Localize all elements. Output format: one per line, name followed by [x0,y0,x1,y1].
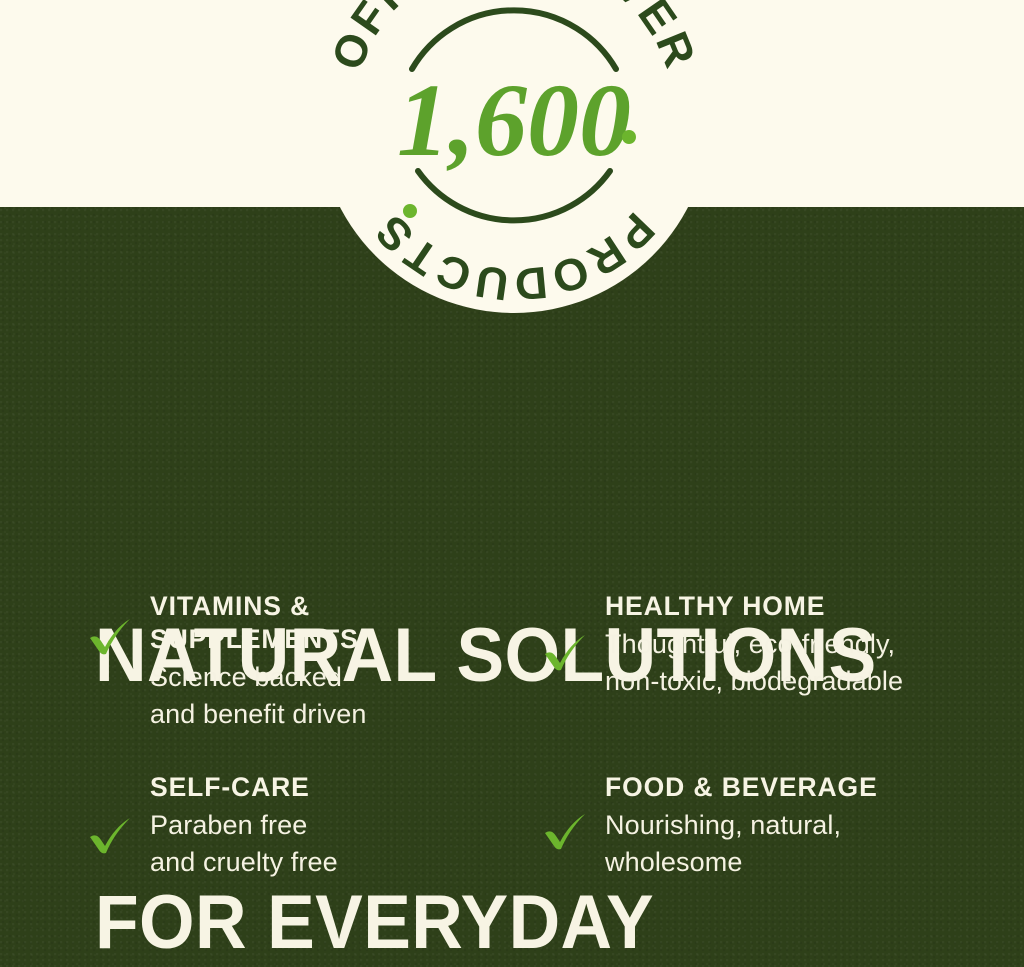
feature-list: VITAMINS & SUPPLEMENTS Science backed an… [0,590,1024,881]
feature-self-care: SELF-CARE Paraben free and cruelty free [88,771,543,881]
check-container [543,771,605,851]
feature-title: SELF-CARE [150,771,543,804]
feature-vitamins-supplements: VITAMINS & SUPPLEMENTS Science backed an… [88,590,543,733]
check-icon [88,815,132,855]
feature-title: VITAMINS & SUPPLEMENTS [150,590,543,656]
feature-text: SELF-CARE Paraben free and cruelty free [150,771,543,881]
feature-description: Thoughtful, eco-friendly, non-toxic, bio… [605,626,1012,700]
check-container [88,771,150,855]
badge-graphic: OFFERING OVER PRODUCTS 1,600 [318,0,710,313]
badge-dot-right-icon [622,130,636,144]
feature-text: VITAMINS & SUPPLEMENTS Science backed an… [150,590,543,733]
check-icon [543,811,587,851]
feature-title: FOOD & BEVERAGE [605,771,1012,804]
check-container [88,590,150,656]
badge-upper-arc-rule [412,10,616,69]
feature-text: FOOD & BEVERAGE Nourishing, natural, who… [605,771,1012,881]
feature-text: HEALTHY HOME Thoughtful, eco-friendly, n… [605,590,1012,700]
promo-banner: OFFERING OVER PRODUCTS 1,600 NATURAL SOL… [0,0,1024,967]
badge-number: 1,600 [397,63,631,178]
check-icon [88,616,132,656]
feature-food-beverage: FOOD & BEVERAGE Nourishing, natural, who… [543,771,1012,881]
headline-line-2: FOR EVERYDAY [95,878,877,967]
products-count-badge: OFFERING OVER PRODUCTS 1,600 [318,0,710,313]
feature-description: Science backed and benefit driven [150,659,543,733]
check-container [543,590,605,672]
badge-lower-arc-rule [418,171,610,220]
feature-title: HEALTHY HOME [605,590,1012,623]
badge-dot-left-icon [403,204,417,218]
feature-description: Nourishing, natural, wholesome [605,807,1012,881]
feature-description: Paraben free and cruelty free [150,807,543,881]
check-icon [543,632,587,672]
feature-healthy-home: HEALTHY HOME Thoughtful, eco-friendly, n… [543,590,1012,733]
